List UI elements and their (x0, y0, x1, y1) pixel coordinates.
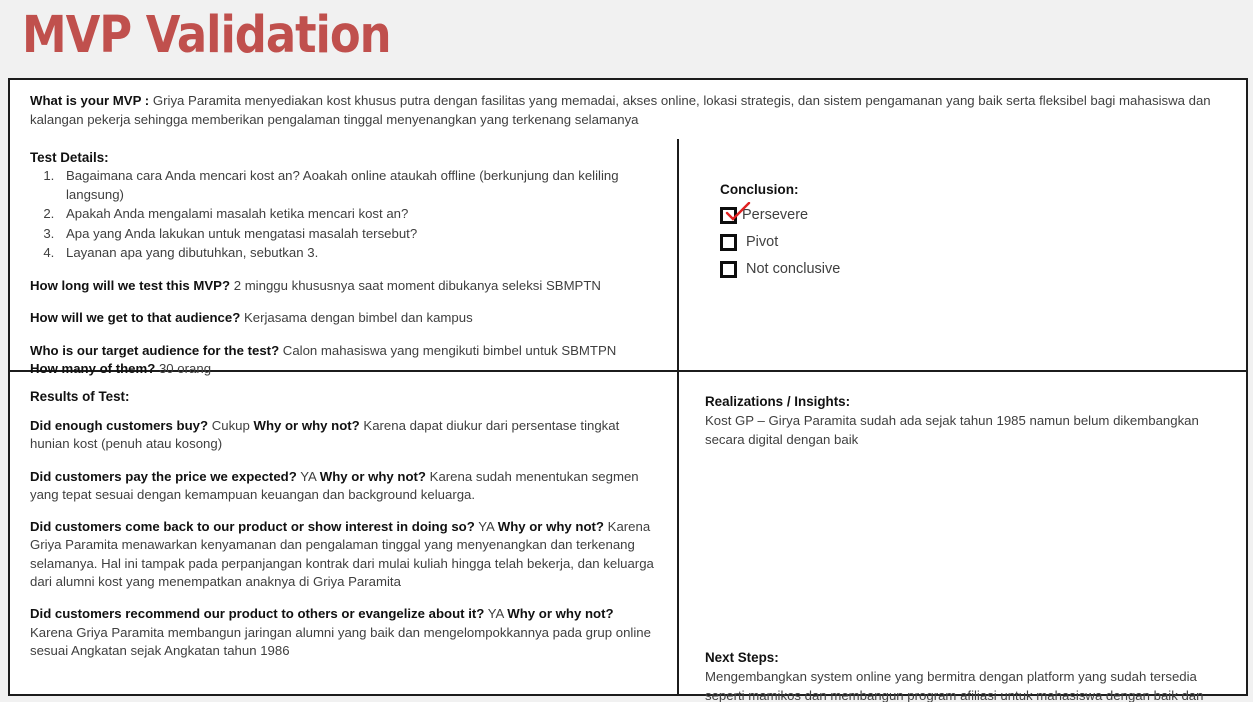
result-question-primary: Did customers come back to our product o… (30, 519, 475, 534)
next-steps-heading: Next Steps: (705, 650, 1224, 665)
test-details-heading: Test Details: (30, 150, 663, 165)
result-question-secondary: Why or why not? (320, 469, 426, 484)
conclusion-option-label: Not conclusive (746, 261, 840, 278)
mvp-statement-label: What is your MVP (30, 93, 141, 108)
target-audience-question: Who is our target audience for the test? (30, 343, 279, 358)
conclusion-panel: Conclusion: Persevere Pivot Not conclusi… (679, 142, 1246, 288)
audience-reach-answer: Kerjasama dengan bimbel dan kampus (240, 310, 472, 325)
result-question-primary: Did enough customers buy? (30, 418, 208, 433)
test-duration-answer: 2 minggu khususnya saat moment dibukanya… (230, 278, 601, 293)
result-question-secondary: Why or why not? (498, 519, 604, 534)
audience-reach-question: How will we get to that audience? (30, 310, 240, 325)
result-block-price: Did customers pay the price we expected?… (30, 468, 659, 505)
checkbox-not-conclusive[interactable] (720, 261, 737, 278)
result-question-primary: Did customers recommend our product to o… (30, 606, 484, 621)
result-question-secondary: Why or why not? (254, 418, 360, 433)
conclusion-option-not-conclusive[interactable]: Not conclusive (720, 261, 1232, 278)
conclusion-option-persevere[interactable]: Persevere (720, 207, 1232, 224)
conclusion-option-label: Pivot (746, 234, 778, 251)
test-duration-row: How long will we test this MVP? 2 minggu… (30, 277, 663, 296)
result-question-secondary: Why or why not? (507, 606, 613, 621)
result-block-recommend: Did customers recommend our product to o… (30, 605, 659, 660)
list-item: Apa yang Anda lakukan untuk mengatasi ma… (58, 225, 663, 244)
list-item: Bagaimana cara Anda mencari kost an? Aoa… (58, 167, 663, 204)
results-panel: Results of Test: Did enough customers bu… (10, 374, 677, 694)
target-audience-answer: Calon mahasiswa yang mengikuti bimbel un… (279, 343, 616, 358)
mvp-statement-separator: : (141, 93, 153, 108)
mvp-statement-text: Griya Paramita menyediakan kost khusus p… (30, 93, 1211, 127)
next-steps-body: Mengembangkan system online yang bermitr… (705, 667, 1224, 702)
results-heading: Results of Test: (30, 389, 659, 404)
result-answer-primary: YA (475, 519, 498, 534)
mvp-statement-line: What is your MVP : Griya Paramita menyed… (30, 91, 1230, 129)
result-block-return: Did customers come back to our product o… (30, 518, 659, 591)
list-item: Apakah Anda mengalami masalah ketika men… (58, 205, 663, 224)
checkbox-persevere[interactable] (720, 207, 737, 224)
list-item: Layanan apa yang dibutuhkan, sebutkan 3. (58, 244, 663, 263)
realizations-insights-heading: Realizations / Insights: (705, 394, 1230, 409)
mvp-statement: What is your MVP : Griya Paramita menyed… (10, 80, 1246, 129)
test-details-panel: Test Details: Bagaimana cara Anda mencar… (10, 142, 677, 379)
insights-next-steps-panel: Realizations / Insights: Kost GP – Girya… (679, 374, 1246, 694)
audience-reach-row: How will we get to that audience? Kerjas… (30, 309, 663, 328)
next-steps-block: Next Steps: Mengembangkan system online … (679, 650, 1246, 702)
conclusion-heading: Conclusion: (720, 182, 1232, 197)
result-answer-secondary: Karena Griya Paramita membangun jaringan… (30, 625, 651, 658)
result-answer-primary: Cukup (208, 418, 253, 433)
result-answer-primary: YA (297, 469, 320, 484)
page-title: MVP Validation (22, 4, 391, 68)
test-duration-question: How long will we test this MVP? (30, 278, 230, 293)
conclusion-option-label: Persevere (742, 207, 808, 224)
result-block-buy: Did enough customers buy? Cukup Why or w… (30, 417, 659, 454)
checkbox-pivot[interactable] (720, 234, 737, 251)
realizations-insights-body: Kost GP – Girya Paramita sudah ada sejak… (705, 411, 1230, 449)
test-details-heading-colon: : (104, 150, 108, 165)
target-audience-row: Who is our target audience for the test?… (30, 342, 663, 379)
result-question-primary: Did customers pay the price we expected? (30, 469, 297, 484)
test-details-heading-text: Test Details (30, 150, 104, 165)
test-question-list: Bagaimana cara Anda mencari kost an? Aoa… (30, 167, 663, 263)
conclusion-option-pivot[interactable]: Pivot (720, 234, 1232, 251)
slide-canvas: MVP Validation What is your MVP : Griya … (0, 0, 1253, 702)
result-answer-primary: YA (484, 606, 507, 621)
realizations-insights-block: Realizations / Insights: Kost GP – Girya… (679, 394, 1246, 449)
content-sheet: What is your MVP : Griya Paramita menyed… (8, 78, 1248, 696)
